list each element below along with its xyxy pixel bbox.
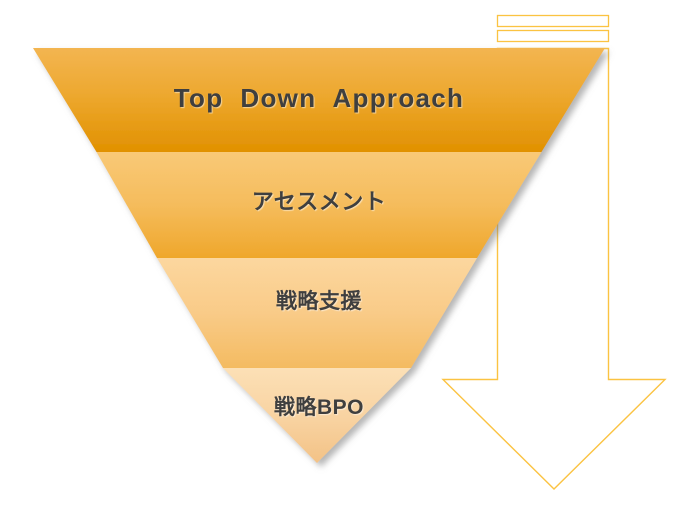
slide-canvas: Top Down Approach アセスメント 戦略支援 戦略BPO — [0, 0, 690, 517]
arrow-stack-strip-2 — [498, 31, 609, 42]
funnel-label-top-down-approach: Top Down Approach — [33, 84, 605, 113]
funnel-label-strategy-bpo: 戦略BPO — [205, 396, 433, 419]
arrow-stack-strip-1 — [498, 16, 609, 27]
funnel-label-assessment: アセスメント — [118, 190, 520, 214]
funnel-label-strategy-support: 戦略支援 — [175, 290, 463, 313]
funnel-diagram — [0, 0, 690, 517]
